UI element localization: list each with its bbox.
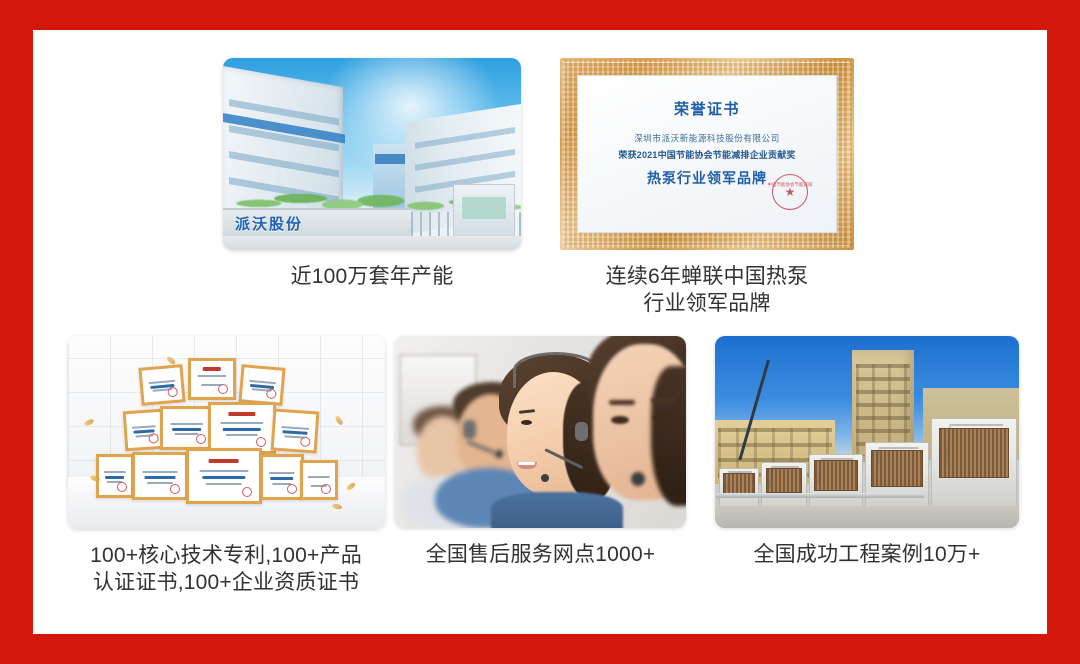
headset-microphone bbox=[631, 472, 645, 486]
card-certificates-wall[interactable]: 100+核心技术专利,100+产品 认证证书,100+企业资质证书 bbox=[61, 336, 391, 597]
certificates-display-photo[interactable] bbox=[68, 336, 385, 529]
caption-factory: 近100万套年产能 bbox=[291, 264, 454, 291]
caption-heat-pumps: 全国成功工程案例10万+ bbox=[753, 542, 980, 569]
agent-front-eye bbox=[611, 416, 629, 424]
certificate-sheet: 荣誉证书 深圳市派沃新能源科技股份有限公司 荣获2021中国节能协会节能减排企业… bbox=[577, 75, 837, 233]
heat-pump-unit bbox=[865, 442, 929, 510]
content-canvas: 派沃股份 近100万套年产能 荣誉证书 深圳市派沃新能源科技股份有限公司 bbox=[33, 30, 1047, 634]
headset-earpiece bbox=[463, 420, 476, 439]
agent-front-eye bbox=[653, 414, 671, 422]
certificate-frame-item bbox=[260, 454, 304, 500]
certificate-company: 深圳市派沃新能源科技股份有限公司 bbox=[578, 131, 836, 144]
agent-front-eyebrow bbox=[651, 398, 677, 403]
agent-main-eye bbox=[521, 420, 532, 425]
ground-strip bbox=[223, 236, 521, 250]
ground-pavement bbox=[715, 506, 1019, 528]
red-border-frame: 派沃股份 近100万套年产能 荣誉证书 深圳市派沃新能源科技股份有限公司 bbox=[0, 0, 1080, 664]
certificate-frame-item bbox=[270, 408, 319, 453]
agent-main-teeth bbox=[518, 462, 535, 465]
certificate-frame-item bbox=[188, 358, 236, 400]
call-center-photo[interactable] bbox=[395, 336, 686, 528]
headset-earpiece bbox=[575, 422, 588, 441]
water-pipe bbox=[715, 493, 925, 498]
certificate-frame-item bbox=[208, 402, 276, 454]
fan-guard bbox=[818, 458, 854, 484]
certificate-frame-item bbox=[96, 454, 134, 498]
certificate-frame-item bbox=[160, 406, 214, 450]
agent-front-eyebrow bbox=[609, 400, 635, 405]
certificate-frame-item bbox=[138, 364, 185, 406]
certificate-frame-item bbox=[122, 409, 165, 452]
certificate-frame-item bbox=[132, 452, 188, 500]
guard-house bbox=[453, 184, 515, 238]
caption-certificate: 连续6年蝉联中国热泵 行业领军品牌 bbox=[606, 264, 809, 318]
heat-pump-installation-photo[interactable] bbox=[715, 336, 1019, 528]
factory-signage-text: 派沃股份 bbox=[235, 213, 303, 234]
heat-pump-unit bbox=[761, 462, 807, 510]
caption-call-center: 全国售后服务网点1000+ bbox=[426, 542, 656, 569]
heat-pump-unit bbox=[931, 418, 1017, 510]
factory-photo[interactable]: 派沃股份 bbox=[223, 58, 521, 250]
certificate-frame-item bbox=[186, 448, 262, 504]
certificate-frame-item bbox=[300, 460, 338, 500]
agent-main-body bbox=[491, 492, 623, 528]
top-row: 派沃股份 近100万套年产能 荣誉证书 深圳市派沃新能源科技股份有限公司 bbox=[33, 30, 1047, 320]
heat-pump-unit bbox=[719, 468, 759, 510]
fan-guard bbox=[769, 466, 799, 488]
certificate-award: 荣获2021中国节能协会节能减排企业贡献奖 bbox=[578, 148, 836, 161]
caption-certificates-wall: 100+核心技术专利,100+产品 认证证书,100+企业资质证书 bbox=[61, 543, 391, 597]
fan-guard bbox=[875, 447, 918, 479]
honor-certificate-photo[interactable]: 荣誉证书 深圳市派沃新能源科技股份有限公司 荣获2021中国节能协会节能减排企业… bbox=[560, 58, 854, 250]
card-factory[interactable]: 派沃股份 近100万套年产能 bbox=[223, 58, 521, 291]
heat-pump-unit bbox=[809, 454, 863, 510]
red-seal-stamp: 中国节能协会节能减排 bbox=[772, 174, 808, 210]
seal-ring-text: 中国节能协会节能减排 bbox=[768, 182, 813, 188]
card-certificate[interactable]: 荣誉证书 深圳市派沃新能源科技股份有限公司 荣获2021中国节能协会节能减排企业… bbox=[560, 58, 854, 318]
card-call-center[interactable]: 全国售后服务网点1000+ bbox=[395, 336, 686, 569]
fan-guard bbox=[726, 471, 752, 490]
certificate-title: 荣誉证书 bbox=[578, 98, 836, 119]
bottom-row: 100+核心技术专利,100+产品 认证证书,100+企业资质证书 bbox=[33, 320, 1047, 634]
headset-microphone bbox=[495, 450, 503, 458]
headset-microphone bbox=[541, 474, 549, 482]
certificate-frame-item bbox=[238, 364, 285, 406]
fan-guard bbox=[945, 424, 1003, 467]
card-heat-pumps[interactable]: 全国成功工程案例10万+ bbox=[715, 336, 1019, 569]
